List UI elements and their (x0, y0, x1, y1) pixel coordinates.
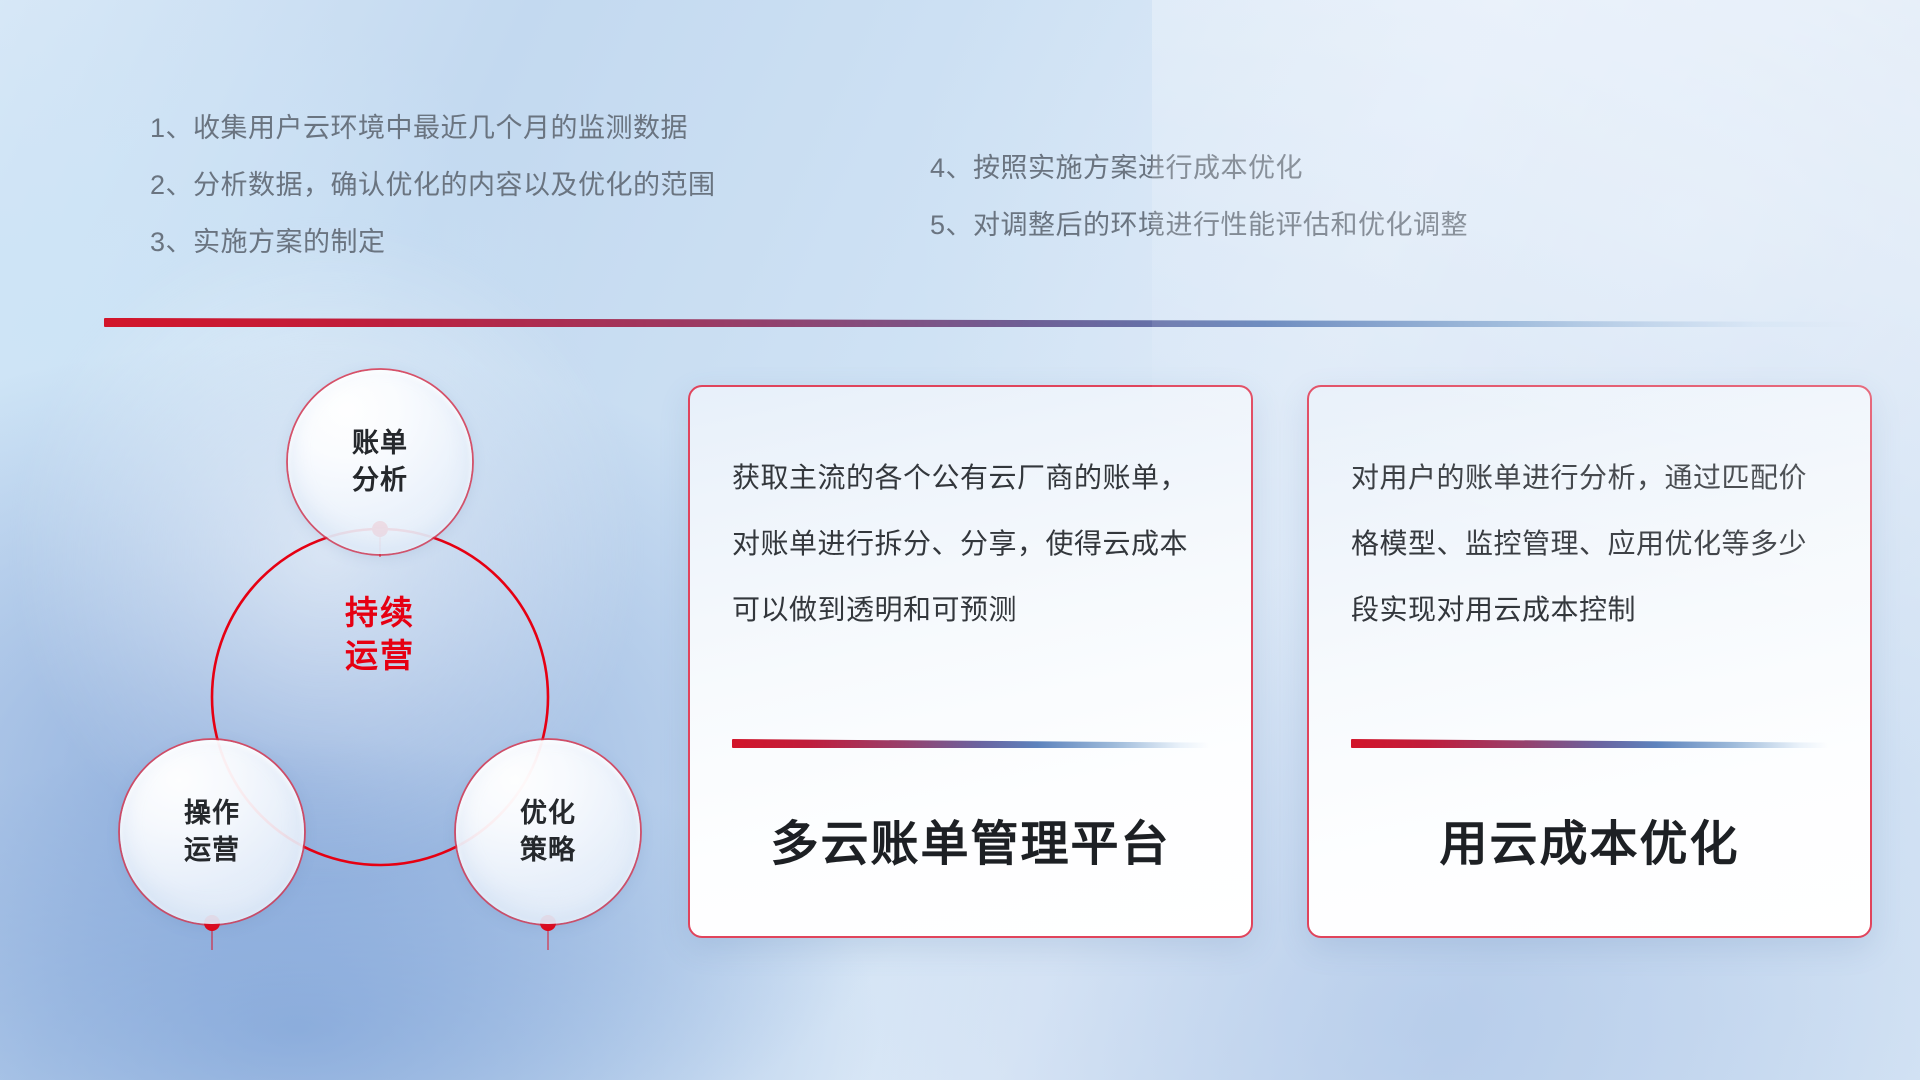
venn-bubble-operations[interactable]: 操作 运营 (120, 740, 304, 924)
venn-diagram: 账单 分析 操作 运营 优化 策略 持续 运营 (100, 352, 660, 942)
venn-bubble-optimization-strategy[interactable]: 优化 策略 (456, 740, 640, 924)
divider-gradient-bar (104, 318, 1862, 327)
venn-bubble-left-line2: 运营 (184, 832, 240, 869)
venn-center-label: 持续 运营 (288, 592, 472, 678)
venn-center-label-line2: 运营 (288, 635, 472, 678)
card-title-cloud-cost-optimization: 用云成本优化 (1351, 804, 1828, 874)
step-item-5: 5、对调整后的环境进行性能评估和优化调整 (930, 197, 1690, 254)
card-rule-cloud-cost-optimization (1351, 739, 1828, 748)
steps-section: 1、收集用户云环境中最近几个月的监测数据 2、分析数据，确认优化的内容以及优化的… (0, 100, 1920, 271)
card-rule-multi-cloud-billing (732, 739, 1209, 748)
venn-bubble-top-line2: 分析 (352, 462, 408, 499)
card-body-multi-cloud-billing: 获取主流的各个公有云厂商的账单，对账单进行拆分、分享，使得云成本可以做到透明和可… (732, 445, 1209, 713)
step-item-3: 3、实施方案的制定 (150, 214, 890, 271)
step-item-2: 2、分析数据，确认优化的内容以及优化的范围 (150, 157, 890, 214)
venn-bubble-right-line1: 优化 (520, 795, 576, 832)
card-title-multi-cloud-billing: 多云账单管理平台 (732, 804, 1209, 874)
venn-bubble-left-line1: 操作 (184, 795, 240, 832)
feature-cards: 获取主流的各个公有云厂商的账单，对账单进行拆分、分享，使得云成本可以做到透明和可… (688, 385, 1872, 938)
steps-right-column: 4、按照实施方案进行成本优化 5、对调整后的环境进行性能评估和优化调整 (930, 100, 1690, 271)
step-item-4: 4、按照实施方案进行成本优化 (930, 140, 1690, 197)
venn-center-label-line1: 持续 (288, 592, 472, 635)
card-rule-gradient-bar (1351, 739, 1828, 748)
card-rule-gradient-bar (732, 739, 1209, 748)
venn-bubble-billing-analysis[interactable]: 账单 分析 (288, 370, 472, 554)
section-divider (104, 318, 1862, 327)
card-body-cloud-cost-optimization: 对用户的账单进行分析，通过匹配价格模型、监控管理、应用优化等多少段实现对用云成本… (1351, 445, 1828, 713)
steps-left-column: 1、收集用户云环境中最近几个月的监测数据 2、分析数据，确认优化的内容以及优化的… (150, 100, 890, 271)
venn-bubble-right-line2: 策略 (520, 832, 576, 869)
slide-background: 1、收集用户云环境中最近几个月的监测数据 2、分析数据，确认优化的内容以及优化的… (0, 0, 1920, 1080)
card-multi-cloud-billing[interactable]: 获取主流的各个公有云厂商的账单，对账单进行拆分、分享，使得云成本可以做到透明和可… (688, 385, 1253, 938)
step-item-1: 1、收集用户云环境中最近几个月的监测数据 (150, 100, 890, 157)
card-cloud-cost-optimization[interactable]: 对用户的账单进行分析，通过匹配价格模型、监控管理、应用优化等多少段实现对用云成本… (1307, 385, 1872, 938)
venn-bubble-top-line1: 账单 (352, 425, 408, 462)
